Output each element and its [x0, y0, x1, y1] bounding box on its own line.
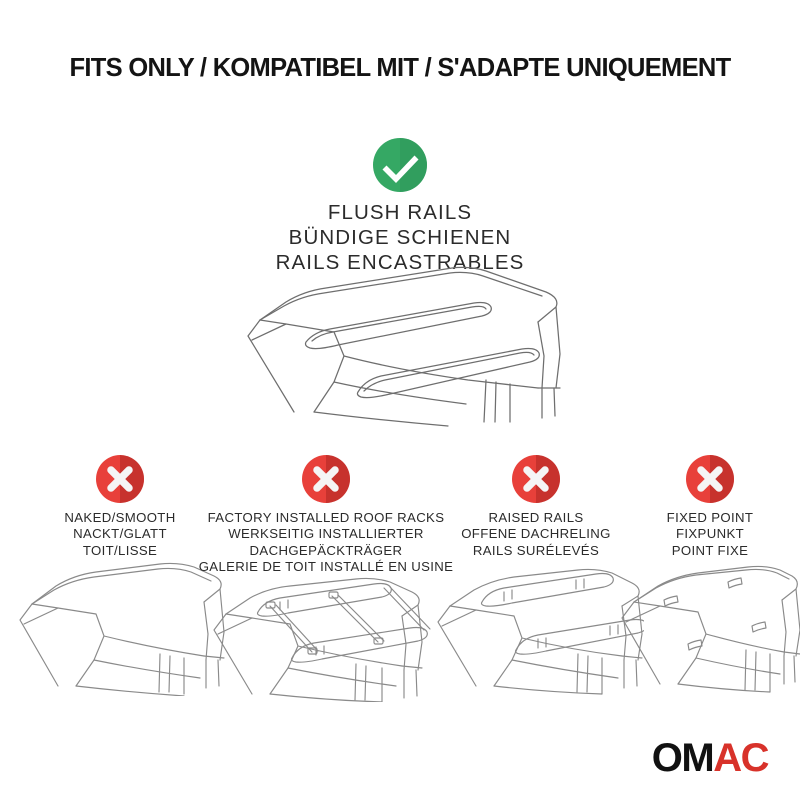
page-title: FITS ONLY / KOMPATIBEL MIT / S'ADAPTE UN… — [0, 54, 800, 83]
car-roof-flush-rails-illustration — [238, 262, 578, 432]
option-caption: FIXED POINT FIXPUNKT POINT FIXE — [620, 510, 800, 559]
compatible-caption-line-1: FLUSH RAILS — [0, 200, 800, 225]
option-raised-rails: RAISED RAILS OFFENE DACHRELING RAILS SUR… — [428, 448, 644, 559]
option-fixed-point: FIXED POINT FIXPUNKT POINT FIXE — [620, 448, 800, 559]
compatible-caption-line-2: BÜNDIGE SCHIENEN — [0, 225, 800, 250]
car-roof-raised-rails-illustration — [428, 556, 644, 696]
check-circle-icon — [373, 138, 427, 192]
option-factory-roof-racks: FACTORY INSTALLED ROOF RACKS WERKSEITIG … — [196, 448, 456, 576]
option-caption-line-2: FIXPUNKT — [620, 526, 800, 542]
option-caption-line-3: DACHGEPÄCKTRÄGER — [196, 543, 456, 559]
option-caption-line-1: FIXED POINT — [620, 510, 800, 526]
car-roof-fixed-point-illustration — [620, 556, 800, 696]
compatible-section: FLUSH RAILS BÜNDIGE SCHIENEN RAILS ENCAS… — [0, 138, 800, 275]
option-caption-line-1: RAISED RAILS — [428, 510, 644, 526]
x-circle-icon — [512, 455, 560, 503]
x-circle-icon — [96, 455, 144, 503]
omac-logo: OMAC — [652, 738, 768, 778]
incompatible-options-row: NAKED/SMOOTH NACKT/GLATT TOIT/LISSE — [0, 448, 800, 698]
option-caption: RAISED RAILS OFFENE DACHRELING RAILS SUR… — [428, 510, 644, 559]
option-caption: FACTORY INSTALLED ROOF RACKS WERKSEITIG … — [196, 510, 456, 576]
option-caption-line-1: FACTORY INSTALLED ROOF RACKS — [196, 510, 456, 526]
omac-logo-accent: AC — [713, 736, 768, 780]
omac-logo-dark: OM — [652, 736, 713, 780]
x-circle-icon — [686, 455, 734, 503]
option-caption-line-2: WERKSEITIG INSTALLIERTER — [196, 526, 456, 542]
car-roof-factory-racks-illustration — [196, 572, 456, 702]
option-caption-line-2: OFFENE DACHRELING — [428, 526, 644, 542]
x-circle-icon — [302, 455, 350, 503]
